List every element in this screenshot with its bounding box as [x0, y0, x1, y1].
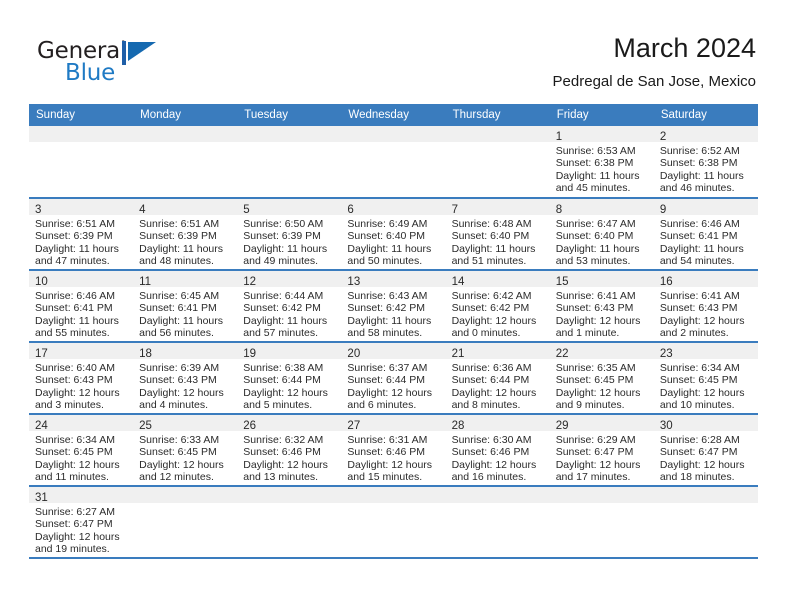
sunrise-text: Sunrise: 6:38 AM [243, 362, 335, 374]
day-number-band: 7 [446, 199, 550, 215]
daylight-text-line2: and 0 minutes. [452, 327, 544, 339]
day-number-band: 23 [654, 343, 758, 359]
day-number: 27 [347, 420, 360, 432]
calendar-day-cell-empty [237, 486, 341, 558]
weekday-header-saturday: Saturday [654, 104, 758, 126]
calendar-day-cell[interactable]: 3Sunrise: 6:51 AMSunset: 6:39 PMDaylight… [29, 198, 133, 270]
day-number-band: 14 [446, 271, 550, 287]
day-number-band [237, 126, 341, 142]
calendar-day-cell-empty [654, 486, 758, 558]
daylight-text-line2: and 55 minutes. [35, 327, 127, 339]
day-number: 20 [347, 348, 360, 360]
day-number-band: 1 [550, 126, 654, 142]
sunrise-text: Sunrise: 6:32 AM [243, 434, 335, 446]
sunset-text: Sunset: 6:45 PM [556, 374, 648, 386]
daylight-text-line2: and 46 minutes. [660, 182, 752, 194]
day-number: 14 [452, 276, 465, 288]
day-cell-content: 15Sunrise: 6:41 AMSunset: 6:43 PMDayligh… [550, 271, 654, 341]
calendar-day-cell-empty [237, 126, 341, 198]
daylight-text-line1: Daylight: 12 hours [35, 459, 127, 471]
sunrise-text: Sunrise: 6:51 AM [35, 218, 127, 230]
daylight-text-line1: Daylight: 11 hours [243, 243, 335, 255]
calendar-day-cell[interactable]: 4Sunrise: 6:51 AMSunset: 6:39 PMDaylight… [133, 198, 237, 270]
calendar-week-row: 1Sunrise: 6:53 AMSunset: 6:38 PMDaylight… [29, 126, 758, 198]
sunset-text: Sunset: 6:47 PM [35, 518, 127, 530]
sunset-text: Sunset: 6:40 PM [556, 230, 648, 242]
day-number-band: 28 [446, 415, 550, 431]
sunset-text: Sunset: 6:45 PM [139, 446, 231, 458]
day-number: 9 [660, 204, 666, 216]
calendar-day-cell[interactable]: 22Sunrise: 6:35 AMSunset: 6:45 PMDayligh… [550, 342, 654, 414]
day-cell-content: 19Sunrise: 6:38 AMSunset: 6:44 PMDayligh… [237, 343, 341, 413]
calendar-week-row: 24Sunrise: 6:34 AMSunset: 6:45 PMDayligh… [29, 414, 758, 486]
calendar-day-cell-empty [446, 486, 550, 558]
calendar-day-cell[interactable]: 5Sunrise: 6:50 AMSunset: 6:39 PMDaylight… [237, 198, 341, 270]
day-number-band: 27 [341, 415, 445, 431]
day-number-band: 19 [237, 343, 341, 359]
sunrise-text: Sunrise: 6:50 AM [243, 218, 335, 230]
day-number-band [237, 487, 341, 503]
calendar-day-cell[interactable]: 16Sunrise: 6:41 AMSunset: 6:43 PMDayligh… [654, 270, 758, 342]
day-number: 7 [452, 204, 458, 216]
calendar-day-cell-empty [29, 126, 133, 198]
day-details: Sunrise: 6:33 AMSunset: 6:45 PMDaylight:… [133, 431, 237, 484]
sunset-text: Sunset: 6:46 PM [347, 446, 439, 458]
sunset-text: Sunset: 6:44 PM [347, 374, 439, 386]
sunset-text: Sunset: 6:43 PM [35, 374, 127, 386]
calendar-day-cell-empty [550, 486, 654, 558]
day-cell-content: 9Sunrise: 6:46 AMSunset: 6:41 PMDaylight… [654, 199, 758, 269]
page-subtitle: Pedregal de San Jose, Mexico [553, 72, 756, 91]
calendar-day-cell[interactable]: 11Sunrise: 6:45 AMSunset: 6:41 PMDayligh… [133, 270, 237, 342]
daylight-text-line1: Daylight: 12 hours [660, 315, 752, 327]
daylight-text-line2: and 11 minutes. [35, 471, 127, 483]
calendar-day-cell[interactable]: 30Sunrise: 6:28 AMSunset: 6:47 PMDayligh… [654, 414, 758, 486]
sunrise-text: Sunrise: 6:46 AM [660, 218, 752, 230]
sunset-text: Sunset: 6:47 PM [556, 446, 648, 458]
day-number: 22 [556, 348, 569, 360]
calendar-day-cell-empty [133, 486, 237, 558]
daylight-text-line2: and 15 minutes. [347, 471, 439, 483]
day-number-band: 26 [237, 415, 341, 431]
day-details: Sunrise: 6:51 AMSunset: 6:39 PMDaylight:… [133, 215, 237, 268]
calendar-day-cell[interactable]: 17Sunrise: 6:40 AMSunset: 6:43 PMDayligh… [29, 342, 133, 414]
calendar-day-cell[interactable]: 20Sunrise: 6:37 AMSunset: 6:44 PMDayligh… [341, 342, 445, 414]
day-number: 21 [452, 348, 465, 360]
day-number: 13 [347, 276, 360, 288]
day-cell-content [133, 126, 237, 197]
day-number: 30 [660, 420, 673, 432]
sunrise-text: Sunrise: 6:51 AM [139, 218, 231, 230]
day-number: 18 [139, 348, 152, 360]
daylight-text-line2: and 3 minutes. [35, 399, 127, 411]
daylight-text-line1: Daylight: 12 hours [452, 459, 544, 471]
sunrise-text: Sunrise: 6:35 AM [556, 362, 648, 374]
day-cell-content: 13Sunrise: 6:43 AMSunset: 6:42 PMDayligh… [341, 271, 445, 341]
day-number-band [133, 487, 237, 503]
day-number-band: 3 [29, 199, 133, 215]
day-cell-content: 4Sunrise: 6:51 AMSunset: 6:39 PMDaylight… [133, 199, 237, 269]
day-cell-content [446, 487, 550, 557]
calendar-day-cell-empty [133, 126, 237, 198]
sunrise-text: Sunrise: 6:34 AM [35, 434, 127, 446]
day-details: Sunrise: 6:31 AMSunset: 6:46 PMDaylight:… [341, 431, 445, 484]
day-details: Sunrise: 6:35 AMSunset: 6:45 PMDaylight:… [550, 359, 654, 412]
day-number-band [550, 487, 654, 503]
day-details: Sunrise: 6:41 AMSunset: 6:43 PMDaylight:… [550, 287, 654, 340]
day-cell-content: 30Sunrise: 6:28 AMSunset: 6:47 PMDayligh… [654, 415, 758, 485]
sunset-text: Sunset: 6:43 PM [556, 302, 648, 314]
day-number: 11 [139, 276, 151, 288]
day-details: Sunrise: 6:45 AMSunset: 6:41 PMDaylight:… [133, 287, 237, 340]
calendar-table: Sunday Monday Tuesday Wednesday Thursday… [29, 104, 758, 559]
daylight-text-line1: Daylight: 12 hours [243, 459, 335, 471]
day-details: Sunrise: 6:47 AMSunset: 6:40 PMDaylight:… [550, 215, 654, 268]
day-details: Sunrise: 6:28 AMSunset: 6:47 PMDaylight:… [654, 431, 758, 484]
daylight-text-line1: Daylight: 12 hours [35, 531, 127, 543]
day-number-band: 16 [654, 271, 758, 287]
day-cell-content [654, 487, 758, 557]
calendar-day-cell[interactable]: 12Sunrise: 6:44 AMSunset: 6:42 PMDayligh… [237, 270, 341, 342]
calendar-week-row: 10Sunrise: 6:46 AMSunset: 6:41 PMDayligh… [29, 270, 758, 342]
day-number-band [654, 487, 758, 503]
day-number: 24 [35, 420, 48, 432]
day-details: Sunrise: 6:46 AMSunset: 6:41 PMDaylight:… [654, 215, 758, 268]
calendar-day-cell[interactable]: 31Sunrise: 6:27 AMSunset: 6:47 PMDayligh… [29, 486, 133, 558]
day-cell-content: 27Sunrise: 6:31 AMSunset: 6:46 PMDayligh… [341, 415, 445, 485]
calendar-day-cell-empty [446, 126, 550, 198]
daylight-text-line2: and 17 minutes. [556, 471, 648, 483]
day-cell-content: 31Sunrise: 6:27 AMSunset: 6:47 PMDayligh… [29, 487, 133, 557]
weekday-header-sunday: Sunday [29, 104, 133, 126]
calendar-day-cell[interactable]: 25Sunrise: 6:33 AMSunset: 6:45 PMDayligh… [133, 414, 237, 486]
sunset-text: Sunset: 6:46 PM [452, 446, 544, 458]
day-number: 16 [660, 276, 673, 288]
day-cell-content: 7Sunrise: 6:48 AMSunset: 6:40 PMDaylight… [446, 199, 550, 269]
daylight-text-line1: Daylight: 12 hours [660, 387, 752, 399]
sunrise-text: Sunrise: 6:53 AM [556, 145, 648, 157]
daylight-text-line2: and 5 minutes. [243, 399, 335, 411]
day-cell-content [550, 487, 654, 557]
daylight-text-line1: Daylight: 11 hours [139, 243, 231, 255]
calendar-day-cell[interactable]: 29Sunrise: 6:29 AMSunset: 6:47 PMDayligh… [550, 414, 654, 486]
title-block: March 2024 Pedregal de San Jose, Mexico [553, 32, 756, 91]
calendar-day-cell[interactable]: 24Sunrise: 6:34 AMSunset: 6:45 PMDayligh… [29, 414, 133, 486]
sunset-text: Sunset: 6:44 PM [452, 374, 544, 386]
day-number-band: 15 [550, 271, 654, 287]
day-cell-content: 24Sunrise: 6:34 AMSunset: 6:45 PMDayligh… [29, 415, 133, 485]
day-cell-content [237, 126, 341, 197]
day-details: Sunrise: 6:29 AMSunset: 6:47 PMDaylight:… [550, 431, 654, 484]
day-number: 19 [243, 348, 256, 360]
day-cell-content: 2Sunrise: 6:52 AMSunset: 6:38 PMDaylight… [654, 126, 758, 197]
day-number-band: 24 [29, 415, 133, 431]
calendar-day-cell[interactable]: 2Sunrise: 6:52 AMSunset: 6:38 PMDaylight… [654, 126, 758, 198]
sunset-text: Sunset: 6:38 PM [556, 157, 648, 169]
calendar-day-cell[interactable]: 10Sunrise: 6:46 AMSunset: 6:41 PMDayligh… [29, 270, 133, 342]
calendar-page: General Blue March 2024 Pedregal de San … [0, 0, 792, 612]
day-details: Sunrise: 6:40 AMSunset: 6:43 PMDaylight:… [29, 359, 133, 412]
daylight-text-line1: Daylight: 11 hours [35, 315, 127, 327]
sunrise-text: Sunrise: 6:52 AM [660, 145, 752, 157]
day-cell-content: 29Sunrise: 6:29 AMSunset: 6:47 PMDayligh… [550, 415, 654, 485]
day-number-band: 13 [341, 271, 445, 287]
day-number-band: 20 [341, 343, 445, 359]
daylight-text-line2: and 9 minutes. [556, 399, 648, 411]
day-cell-content [29, 126, 133, 197]
day-details: Sunrise: 6:46 AMSunset: 6:41 PMDaylight:… [29, 287, 133, 340]
sunset-text: Sunset: 6:42 PM [452, 302, 544, 314]
day-cell-content: 17Sunrise: 6:40 AMSunset: 6:43 PMDayligh… [29, 343, 133, 413]
weekday-header-friday: Friday [550, 104, 654, 126]
sunset-text: Sunset: 6:42 PM [347, 302, 439, 314]
calendar-day-cell-empty [341, 486, 445, 558]
calendar-day-cell[interactable]: 9Sunrise: 6:46 AMSunset: 6:41 PMDaylight… [654, 198, 758, 270]
day-details: Sunrise: 6:42 AMSunset: 6:42 PMDaylight:… [446, 287, 550, 340]
daylight-text-line2: and 51 minutes. [452, 255, 544, 267]
daylight-text-line1: Daylight: 11 hours [347, 243, 439, 255]
sunset-text: Sunset: 6:38 PM [660, 157, 752, 169]
daylight-text-line2: and 50 minutes. [347, 255, 439, 267]
daylight-text-line1: Daylight: 12 hours [556, 459, 648, 471]
sunset-text: Sunset: 6:41 PM [660, 230, 752, 242]
daylight-text-line2: and 10 minutes. [660, 399, 752, 411]
day-cell-content: 14Sunrise: 6:42 AMSunset: 6:42 PMDayligh… [446, 271, 550, 341]
day-number-band [29, 126, 133, 142]
calendar-header-row: Sunday Monday Tuesday Wednesday Thursday… [29, 104, 758, 126]
daylight-text-line2: and 19 minutes. [35, 543, 127, 555]
day-details: Sunrise: 6:44 AMSunset: 6:42 PMDaylight:… [237, 287, 341, 340]
daylight-text-line2: and 12 minutes. [139, 471, 231, 483]
daylight-text-line1: Daylight: 11 hours [139, 315, 231, 327]
sunrise-text: Sunrise: 6:37 AM [347, 362, 439, 374]
daylight-text-line1: Daylight: 12 hours [35, 387, 127, 399]
calendar-day-cell[interactable]: 13Sunrise: 6:43 AMSunset: 6:42 PMDayligh… [341, 270, 445, 342]
daylight-text-line1: Daylight: 12 hours [347, 387, 439, 399]
calendar-day-cell[interactable]: 19Sunrise: 6:38 AMSunset: 6:44 PMDayligh… [237, 342, 341, 414]
day-details: Sunrise: 6:41 AMSunset: 6:43 PMDaylight:… [654, 287, 758, 340]
sunset-text: Sunset: 6:41 PM [139, 302, 231, 314]
sunset-text: Sunset: 6:42 PM [243, 302, 335, 314]
day-details: Sunrise: 6:39 AMSunset: 6:43 PMDaylight:… [133, 359, 237, 412]
day-number: 15 [556, 276, 569, 288]
daylight-text-line2: and 48 minutes. [139, 255, 231, 267]
day-number: 29 [556, 420, 569, 432]
sunset-text: Sunset: 6:39 PM [35, 230, 127, 242]
day-details: Sunrise: 6:53 AMSunset: 6:38 PMDaylight:… [550, 142, 654, 195]
daylight-text-line2: and 18 minutes. [660, 471, 752, 483]
daylight-text-line1: Daylight: 11 hours [660, 170, 752, 182]
day-number: 31 [35, 492, 48, 504]
calendar-day-cell[interactable]: 7Sunrise: 6:48 AMSunset: 6:40 PMDaylight… [446, 198, 550, 270]
day-details: Sunrise: 6:48 AMSunset: 6:40 PMDaylight:… [446, 215, 550, 268]
calendar-week-row: 3Sunrise: 6:51 AMSunset: 6:39 PMDaylight… [29, 198, 758, 270]
calendar-day-cell[interactable]: 6Sunrise: 6:49 AMSunset: 6:40 PMDaylight… [341, 198, 445, 270]
sunrise-text: Sunrise: 6:42 AM [452, 290, 544, 302]
sunrise-text: Sunrise: 6:41 AM [556, 290, 648, 302]
day-number-band: 5 [237, 199, 341, 215]
blue-flag-triangle-icon [122, 41, 164, 65]
calendar-day-cell[interactable]: 28Sunrise: 6:30 AMSunset: 6:46 PMDayligh… [446, 414, 550, 486]
day-number-band [341, 487, 445, 503]
day-details: Sunrise: 6:37 AMSunset: 6:44 PMDaylight:… [341, 359, 445, 412]
day-number: 23 [660, 348, 673, 360]
day-number: 1 [556, 131, 562, 143]
day-number: 4 [139, 204, 145, 216]
calendar-day-cell[interactable]: 21Sunrise: 6:36 AMSunset: 6:44 PMDayligh… [446, 342, 550, 414]
day-cell-content: 16Sunrise: 6:41 AMSunset: 6:43 PMDayligh… [654, 271, 758, 341]
sunset-text: Sunset: 6:40 PM [452, 230, 544, 242]
day-cell-content: 23Sunrise: 6:34 AMSunset: 6:45 PMDayligh… [654, 343, 758, 413]
day-details: Sunrise: 6:32 AMSunset: 6:46 PMDaylight:… [237, 431, 341, 484]
day-cell-content [446, 126, 550, 197]
brand-name-blue: Blue [65, 60, 115, 86]
daylight-text-line1: Daylight: 11 hours [660, 243, 752, 255]
sunrise-text: Sunrise: 6:40 AM [35, 362, 127, 374]
page-title: March 2024 [553, 32, 756, 65]
daylight-text-line2: and 4 minutes. [139, 399, 231, 411]
daylight-text-line2: and 6 minutes. [347, 399, 439, 411]
daylight-text-line1: Daylight: 11 hours [556, 243, 648, 255]
day-number-band: 2 [654, 126, 758, 142]
day-number: 5 [243, 204, 249, 216]
day-cell-content: 18Sunrise: 6:39 AMSunset: 6:43 PMDayligh… [133, 343, 237, 413]
calendar-week-row: 17Sunrise: 6:40 AMSunset: 6:43 PMDayligh… [29, 342, 758, 414]
sunrise-text: Sunrise: 6:46 AM [35, 290, 127, 302]
sunset-text: Sunset: 6:45 PM [660, 374, 752, 386]
day-number: 3 [35, 204, 41, 216]
sunset-text: Sunset: 6:39 PM [139, 230, 231, 242]
calendar-day-cell[interactable]: 1Sunrise: 6:53 AMSunset: 6:38 PMDaylight… [550, 126, 654, 198]
daylight-text-line2: and 45 minutes. [556, 182, 648, 194]
daylight-text-line2: and 56 minutes. [139, 327, 231, 339]
day-number-band [446, 487, 550, 503]
daylight-text-line1: Daylight: 12 hours [452, 387, 544, 399]
day-cell-content: 28Sunrise: 6:30 AMSunset: 6:46 PMDayligh… [446, 415, 550, 485]
calendar-day-cell[interactable]: 15Sunrise: 6:41 AMSunset: 6:43 PMDayligh… [550, 270, 654, 342]
daylight-text-line1: Daylight: 12 hours [452, 315, 544, 327]
daylight-text-line2: and 54 minutes. [660, 255, 752, 267]
day-cell-content: 5Sunrise: 6:50 AMSunset: 6:39 PMDaylight… [237, 199, 341, 269]
daylight-text-line2: and 57 minutes. [243, 327, 335, 339]
calendar-day-cell[interactable]: 14Sunrise: 6:42 AMSunset: 6:42 PMDayligh… [446, 270, 550, 342]
day-details: Sunrise: 6:30 AMSunset: 6:46 PMDaylight:… [446, 431, 550, 484]
day-number-band [133, 126, 237, 142]
sunrise-text: Sunrise: 6:36 AM [452, 362, 544, 374]
sunset-text: Sunset: 6:43 PM [139, 374, 231, 386]
sunset-text: Sunset: 6:40 PM [347, 230, 439, 242]
sunrise-text: Sunrise: 6:28 AM [660, 434, 752, 446]
sunrise-text: Sunrise: 6:49 AM [347, 218, 439, 230]
day-number-band: 12 [237, 271, 341, 287]
sunrise-text: Sunrise: 6:34 AM [660, 362, 752, 374]
day-number-band [446, 126, 550, 142]
day-details: Sunrise: 6:52 AMSunset: 6:38 PMDaylight:… [654, 142, 758, 195]
calendar-day-cell[interactable]: 27Sunrise: 6:31 AMSunset: 6:46 PMDayligh… [341, 414, 445, 486]
sunrise-text: Sunrise: 6:47 AM [556, 218, 648, 230]
daylight-text-line2: and 53 minutes. [556, 255, 648, 267]
daylight-text-line1: Daylight: 12 hours [556, 315, 648, 327]
sunset-text: Sunset: 6:44 PM [243, 374, 335, 386]
day-number: 28 [452, 420, 465, 432]
day-number: 12 [243, 276, 256, 288]
sunset-text: Sunset: 6:43 PM [660, 302, 752, 314]
daylight-text-line2: and 13 minutes. [243, 471, 335, 483]
day-cell-content: 10Sunrise: 6:46 AMSunset: 6:41 PMDayligh… [29, 271, 133, 341]
day-number-band: 11 [133, 271, 237, 287]
day-number-band: 22 [550, 343, 654, 359]
sunset-text: Sunset: 6:45 PM [35, 446, 127, 458]
daylight-text-line1: Daylight: 11 hours [243, 315, 335, 327]
day-details: Sunrise: 6:38 AMSunset: 6:44 PMDaylight:… [237, 359, 341, 412]
day-cell-content [341, 487, 445, 557]
day-number-band: 29 [550, 415, 654, 431]
daylight-text-line1: Daylight: 12 hours [347, 459, 439, 471]
sunrise-text: Sunrise: 6:45 AM [139, 290, 231, 302]
day-cell-content [133, 487, 237, 557]
day-cell-content: 22Sunrise: 6:35 AMSunset: 6:45 PMDayligh… [550, 343, 654, 413]
day-cell-content: 1Sunrise: 6:53 AMSunset: 6:38 PMDaylight… [550, 126, 654, 197]
day-cell-content: 11Sunrise: 6:45 AMSunset: 6:41 PMDayligh… [133, 271, 237, 341]
calendar-day-cell-empty [341, 126, 445, 198]
sunset-text: Sunset: 6:47 PM [660, 446, 752, 458]
day-cell-content: 20Sunrise: 6:37 AMSunset: 6:44 PMDayligh… [341, 343, 445, 413]
day-details: Sunrise: 6:36 AMSunset: 6:44 PMDaylight:… [446, 359, 550, 412]
day-number-band: 25 [133, 415, 237, 431]
day-number-band: 17 [29, 343, 133, 359]
day-cell-content: 25Sunrise: 6:33 AMSunset: 6:45 PMDayligh… [133, 415, 237, 485]
calendar-day-cell[interactable]: 23Sunrise: 6:34 AMSunset: 6:45 PMDayligh… [654, 342, 758, 414]
calendar-day-cell[interactable]: 8Sunrise: 6:47 AMSunset: 6:40 PMDaylight… [550, 198, 654, 270]
calendar-day-cell[interactable]: 26Sunrise: 6:32 AMSunset: 6:46 PMDayligh… [237, 414, 341, 486]
day-cell-content: 21Sunrise: 6:36 AMSunset: 6:44 PMDayligh… [446, 343, 550, 413]
calendar-day-cell[interactable]: 18Sunrise: 6:39 AMSunset: 6:43 PMDayligh… [133, 342, 237, 414]
day-number-band: 4 [133, 199, 237, 215]
day-cell-content [237, 487, 341, 557]
daylight-text-line1: Daylight: 11 hours [35, 243, 127, 255]
day-number-band: 6 [341, 199, 445, 215]
day-cell-content [341, 126, 445, 197]
day-details: Sunrise: 6:34 AMSunset: 6:45 PMDaylight:… [29, 431, 133, 484]
sunrise-text: Sunrise: 6:29 AM [556, 434, 648, 446]
day-details: Sunrise: 6:51 AMSunset: 6:39 PMDaylight:… [29, 215, 133, 268]
daylight-text-line2: and 47 minutes. [35, 255, 127, 267]
sunrise-text: Sunrise: 6:41 AM [660, 290, 752, 302]
day-number: 2 [660, 131, 666, 143]
daylight-text-line1: Daylight: 12 hours [139, 387, 231, 399]
day-details: Sunrise: 6:34 AMSunset: 6:45 PMDaylight:… [654, 359, 758, 412]
daylight-text-line2: and 1 minute. [556, 327, 648, 339]
page-header: General Blue March 2024 Pedregal de San … [0, 0, 792, 100]
daylight-text-line1: Daylight: 11 hours [556, 170, 648, 182]
sunrise-text: Sunrise: 6:30 AM [452, 434, 544, 446]
day-details: Sunrise: 6:49 AMSunset: 6:40 PMDaylight:… [341, 215, 445, 268]
daylight-text-line2: and 49 minutes. [243, 255, 335, 267]
calendar-grid: Sunday Monday Tuesday Wednesday Thursday… [29, 104, 758, 559]
sunrise-text: Sunrise: 6:48 AM [452, 218, 544, 230]
day-number-band: 18 [133, 343, 237, 359]
day-number-band: 21 [446, 343, 550, 359]
weekday-header-wednesday: Wednesday [341, 104, 445, 126]
brand-logo[interactable]: General Blue [37, 38, 237, 90]
daylight-text-line2: and 2 minutes. [660, 327, 752, 339]
daylight-text-line1: Daylight: 12 hours [139, 459, 231, 471]
daylight-text-line2: and 58 minutes. [347, 327, 439, 339]
calendar-body: 1Sunrise: 6:53 AMSunset: 6:38 PMDaylight… [29, 126, 758, 558]
daylight-text-line1: Daylight: 11 hours [452, 243, 544, 255]
daylight-text-line2: and 8 minutes. [452, 399, 544, 411]
sunset-text: Sunset: 6:46 PM [243, 446, 335, 458]
